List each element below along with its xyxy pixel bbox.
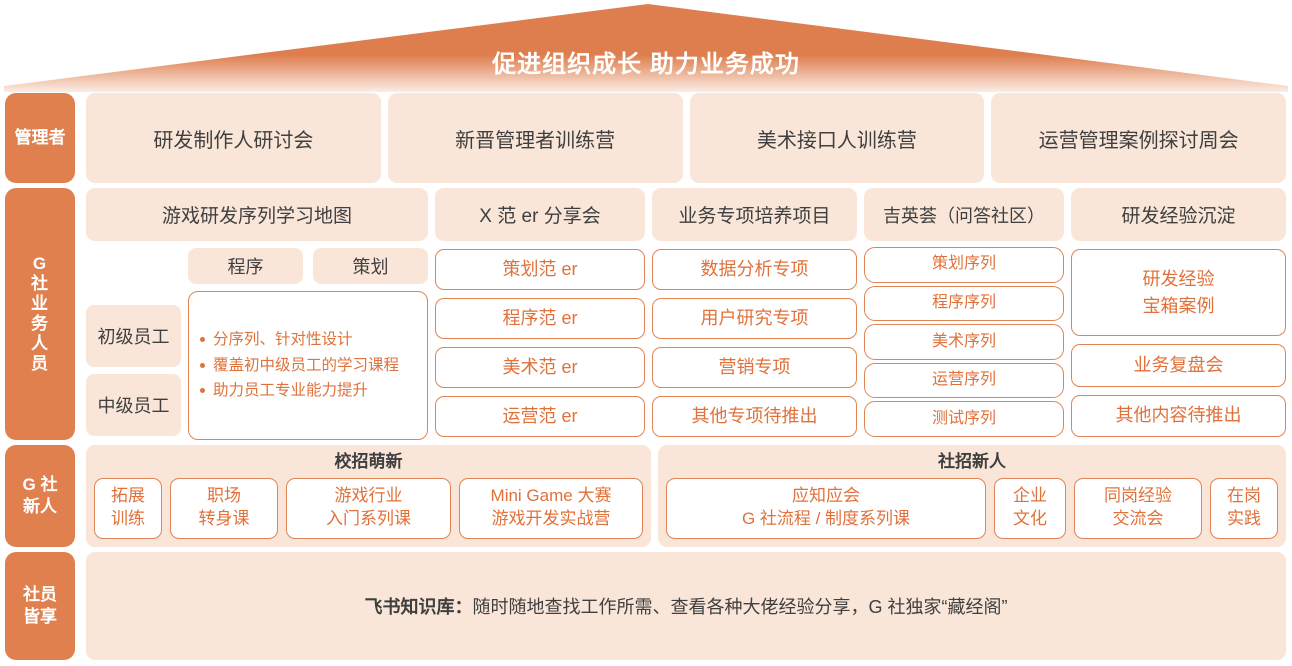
panel-title-campus-recruits: 校招萌新: [94, 449, 643, 475]
tag-programming[interactable]: 程序: [188, 248, 303, 284]
special-programs-items: 数据分析专项 用户研究专项 营销专项 其他专项待推出: [652, 249, 857, 440]
learning-map-bullets: 分序列、针对性设计 覆盖初中级员工的学习课程 助力员工专业能力提升: [188, 291, 428, 440]
column-header-qa-community: 吉英荟（问答社区）: [864, 188, 1064, 241]
panel-social-recruits: 社招新人 应知应会 G 社流程 / 制度系列课 企业 文化 同岗经验 交流会 在…: [658, 445, 1286, 547]
roof-shape: 促进组织成长 助力业务成功: [0, 0, 1292, 92]
level-intermediate[interactable]: 中级员工: [86, 374, 181, 436]
manager-card-2[interactable]: 新晋管理者训练营: [388, 93, 683, 183]
row-label-char: 社: [31, 274, 49, 294]
column-qa-community: 吉英荟（问答社区） 策划序列 程序序列 美术序列 运营序列 测试序列: [864, 188, 1064, 440]
column-learning-map: 游戏研发序列学习地图 初级员工 中级员工 程序 策划: [86, 188, 428, 440]
bullet-item: 覆盖初中级员工的学习课程: [213, 354, 417, 378]
row-label-line: 皆享: [23, 606, 57, 628]
row-label-line: 社员: [23, 584, 57, 606]
row-label-business-staff: G社业务人员: [5, 188, 75, 440]
manager-card-4[interactable]: 运营管理案例探讨周会: [991, 93, 1286, 183]
list-item[interactable]: 策划序列: [864, 247, 1064, 283]
social-recruit-items: 应知应会 G 社流程 / 制度系列课 企业 文化 同岗经验 交流会 在岗 实践: [666, 478, 1278, 540]
list-item[interactable]: 数据分析专项: [652, 249, 857, 290]
list-item[interactable]: 其他专项待推出: [652, 396, 857, 437]
row-managers-body: 研发制作人研讨会 新晋管理者训练营 美术接口人训练营 运营管理案例探讨周会: [86, 93, 1292, 183]
column-rd-experience: 研发经验沉淀 研发经验 宝箱案例 业务复盘会 其他内容待推出: [1071, 188, 1286, 440]
bullet-item: 助力员工专业能力提升: [213, 379, 417, 403]
panel-campus-recruits: 校招萌新 拓展 训练 职场 转身课 游戏行业 入门系列课 Mini Game 大…: [86, 445, 651, 547]
row-label-char: 业: [31, 294, 49, 314]
qa-community-items: 策划序列 程序序列 美术序列 运营序列 测试序列: [864, 247, 1064, 440]
list-item[interactable]: 测试序列: [864, 401, 1064, 437]
list-item[interactable]: 企业 文化: [994, 478, 1066, 540]
list-item[interactable]: 应知应会 G 社流程 / 制度系列课: [666, 478, 986, 540]
list-item[interactable]: 业务复盘会: [1071, 344, 1286, 386]
list-item[interactable]: 拓展 训练: [94, 478, 162, 540]
row-newcomers-body: 校招萌新 拓展 训练 职场 转身课 游戏行业 入门系列课 Mini Game 大…: [86, 445, 1292, 547]
learning-map-right: 程序 策划 分序列、针对性设计 覆盖初中级员工的学习课程 助力员工专业能力提升: [188, 248, 428, 440]
row-label-newcomers: G 社新人: [5, 445, 75, 547]
column-header-learning-map: 游戏研发序列学习地图: [86, 188, 428, 241]
list-item[interactable]: 美术序列: [864, 324, 1064, 360]
list-item[interactable]: 美术范 er: [435, 347, 645, 388]
row-managers: 管理者 研发制作人研讨会 新晋管理者训练营 美术接口人训练营 运营管理案例探讨周…: [0, 93, 1292, 183]
column-header-x-fan-er: X 范 er 分享会: [435, 188, 645, 241]
column-header-rd-experience: 研发经验沉淀: [1071, 188, 1286, 241]
level-junior[interactable]: 初级员工: [86, 305, 181, 367]
diagram-canvas: 促进组织成长 助力业务成功 管理者 研发制作人研讨会 新晋管理者训练营 美术接口…: [0, 0, 1292, 666]
rows-container: 管理者 研发制作人研讨会 新晋管理者训练营 美术接口人训练营 运营管理案例探讨周…: [0, 93, 1292, 665]
row-newcomers: G 社新人 校招萌新 拓展 训练 职场 转身课 游戏行业 入门系列课 Mini …: [0, 445, 1292, 547]
list-item[interactable]: 程序范 er: [435, 298, 645, 339]
list-item[interactable]: 职场 转身课: [170, 478, 278, 540]
list-item[interactable]: 同岗经验 交流会: [1074, 478, 1202, 540]
list-item[interactable]: 用户研究专项: [652, 298, 857, 339]
row-label-all-members: 社员皆享: [5, 552, 75, 660]
rd-experience-items: 研发经验 宝箱案例 业务复盘会 其他内容待推出: [1071, 249, 1286, 440]
list-item[interactable]: 运营范 er: [435, 396, 645, 437]
x-fan-er-items: 策划范 er 程序范 er 美术范 er 运营范 er: [435, 249, 645, 440]
row-label-char: 员: [31, 354, 49, 374]
row-label-line: 新人: [23, 496, 57, 518]
row-label-char: 人: [31, 334, 49, 354]
tag-planning[interactable]: 策划: [313, 248, 428, 284]
discipline-tags: 程序 策划: [188, 248, 428, 284]
panel-title-social-recruits: 社招新人: [666, 449, 1278, 475]
list-item[interactable]: 策划范 er: [435, 249, 645, 290]
knowledge-base-label: 飞书知识库：: [365, 597, 473, 617]
list-item[interactable]: 在岗 实践: [1210, 478, 1278, 540]
column-special-programs: 业务专项培养项目 数据分析专项 用户研究专项 营销专项 其他专项待推出: [652, 188, 857, 440]
row-label-char: G: [33, 254, 47, 274]
campus-recruit-items: 拓展 训练 职场 转身课 游戏行业 入门系列课 Mini Game 大赛 游戏开…: [94, 478, 643, 540]
manager-card-3[interactable]: 美术接口人训练营: [690, 93, 985, 183]
employee-levels: 初级员工 中级员工: [86, 248, 181, 440]
bullet-item: 分序列、针对性设计: [213, 328, 417, 352]
manager-card-1[interactable]: 研发制作人研讨会: [86, 93, 381, 183]
row-label-char: 务: [31, 314, 49, 334]
list-item[interactable]: 研发经验 宝箱案例: [1071, 249, 1286, 336]
row-all-members-body: 飞书知识库：随时随地查找工作所需、查看各种大佬经验分享，G 社独家“藏经阁”: [86, 552, 1292, 660]
list-item[interactable]: 其他内容待推出: [1071, 395, 1286, 437]
row-label-managers: 管理者: [5, 93, 75, 183]
knowledge-base-banner[interactable]: 飞书知识库：随时随地查找工作所需、查看各种大佬经验分享，G 社独家“藏经阁”: [86, 552, 1286, 660]
row-business-staff-body: 游戏研发序列学习地图 初级员工 中级员工 程序 策划: [86, 188, 1292, 440]
row-all-members: 社员皆享 飞书知识库：随时随地查找工作所需、查看各种大佬经验分享，G 社独家“藏…: [0, 552, 1292, 660]
list-item[interactable]: 程序序列: [864, 286, 1064, 322]
list-item[interactable]: 游戏行业 入门系列课: [286, 478, 451, 540]
column-x-fan-er: X 范 er 分享会 策划范 er 程序范 er 美术范 er 运营范 er: [435, 188, 645, 440]
list-item[interactable]: 运营序列: [864, 363, 1064, 399]
list-item[interactable]: Mini Game 大赛 游戏开发实战营: [459, 478, 643, 540]
row-label-line: G 社: [23, 474, 58, 496]
list-item[interactable]: 营销专项: [652, 347, 857, 388]
knowledge-base-text: 随时随地查找工作所需、查看各种大佬经验分享，G 社独家“藏经阁”: [473, 597, 1008, 617]
roof-title: 促进组织成长 助力业务成功: [0, 44, 1292, 79]
row-business-staff: G社业务人员 游戏研发序列学习地图 初级员工 中级员工 程序 策划: [0, 188, 1292, 440]
learning-map-body: 初级员工 中级员工 程序 策划 分序列、针对性设计 覆盖初中: [86, 248, 428, 440]
column-header-special-programs: 业务专项培养项目: [652, 188, 857, 241]
